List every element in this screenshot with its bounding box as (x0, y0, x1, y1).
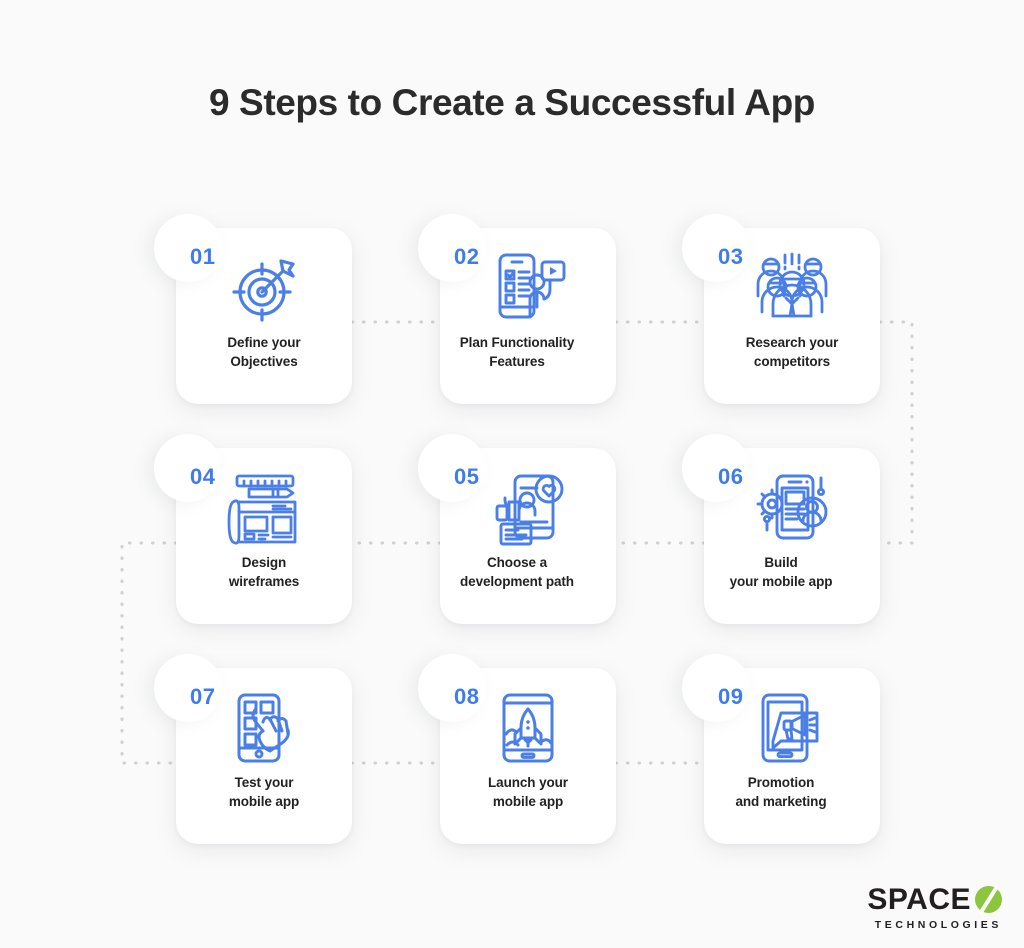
logo-wordmark: SPACE (867, 885, 1002, 915)
step-number: 03 (718, 244, 743, 270)
megaphone-phone-icon (749, 686, 835, 772)
step-card-06[interactable]: 06 (704, 448, 880, 624)
step-number: 06 (718, 464, 743, 490)
step-label: Test your mobile app (176, 774, 352, 811)
connector-04-07 (122, 543, 176, 763)
step-label: Promotion and marketing (671, 774, 891, 811)
step-label: Launch your mobile app (440, 774, 616, 811)
step-label: Design wireframes (176, 554, 352, 591)
step-card-07[interactable]: 07 Test (176, 668, 352, 844)
step-card-03[interactable]: 03 (704, 228, 880, 404)
steps-grid: 01 Define your Objectives 02 (176, 228, 880, 844)
step-label: Build your mobile app (671, 554, 891, 591)
page-title: 9 Steps to Create a Successful App (0, 82, 1024, 124)
people-group-icon (749, 246, 835, 332)
step-number: 04 (190, 464, 215, 490)
brand-logo: SPACE TECHNOLOGIES (867, 885, 1002, 931)
green-slashed-circle-icon (975, 886, 1002, 913)
blueprint-ruler-pencil-icon (221, 466, 307, 552)
step-number: 07 (190, 684, 215, 710)
step-label: Research your competitors (704, 334, 880, 371)
step-label: Plan Functionality Features (407, 334, 627, 371)
step-card-04[interactable]: 04 (176, 448, 352, 624)
step-number: 09 (718, 684, 743, 710)
infographic-canvas: 9 Steps to Create a Successful App 01 (0, 0, 1024, 948)
step-label: Choose a development path (407, 554, 627, 591)
phone-gear-user-icon (749, 466, 835, 552)
rocket-phone-icon (485, 686, 571, 772)
connector-03-06 (880, 322, 912, 543)
step-number: 05 (454, 464, 479, 490)
phone-profile-heart-thumbsup-icon (485, 466, 571, 552)
step-label: Define your Objectives (176, 334, 352, 371)
step-number: 02 (454, 244, 479, 270)
step-number: 01 (190, 244, 215, 270)
step-card-09[interactable]: 09 Promotion and ma (704, 668, 880, 844)
step-card-02[interactable]: 02 (440, 228, 616, 404)
logo-tagline: TECHNOLOGIES (867, 920, 1002, 931)
phone-checklist-person-play-icon (485, 246, 571, 332)
step-card-01[interactable]: 01 Define your Objectives (176, 228, 352, 404)
step-card-08[interactable]: 08 (440, 668, 616, 844)
hand-tap-phone-icon (221, 686, 307, 772)
logo-name: SPACE (867, 885, 971, 915)
target-arrow-icon (221, 246, 307, 332)
step-number: 08 (454, 684, 479, 710)
step-card-05[interactable]: 05 (440, 448, 616, 624)
